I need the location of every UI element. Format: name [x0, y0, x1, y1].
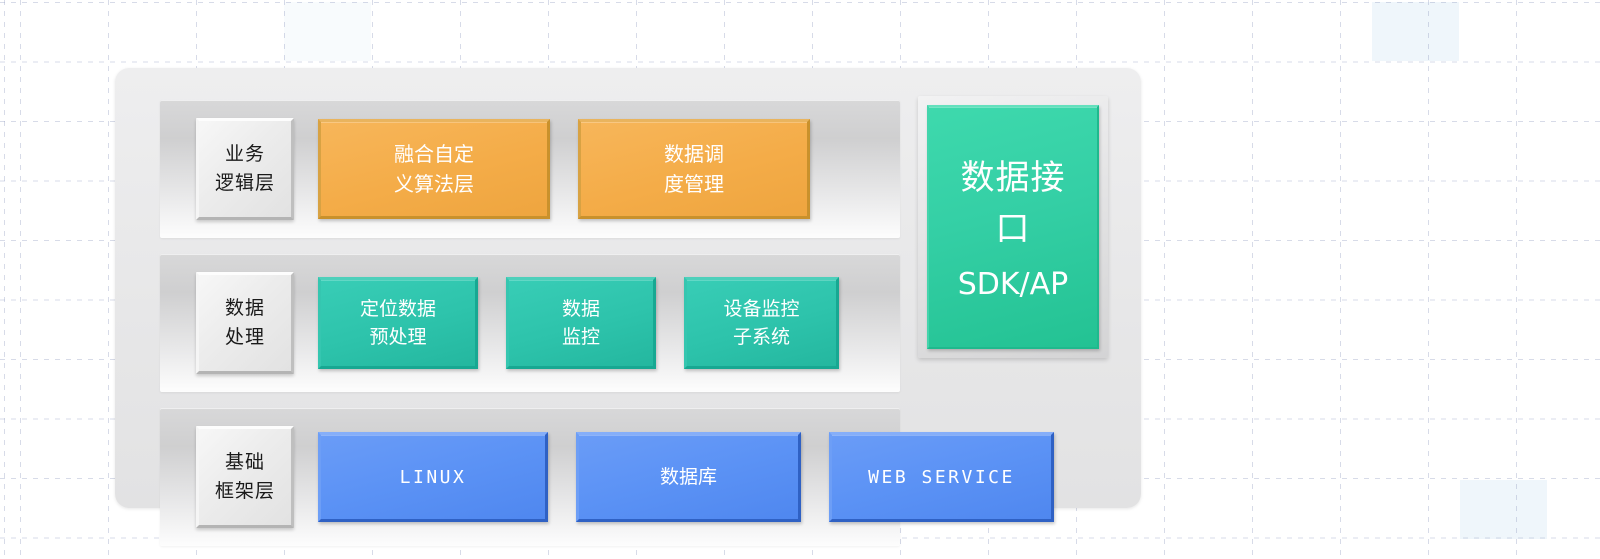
tile-text-line: 义算法层: [394, 169, 474, 199]
tile-data-monitoring[interactable]: 数据 监控: [506, 277, 656, 369]
tile-text-line: 融合自定: [394, 139, 474, 169]
data-interface-line: 口: [996, 204, 1031, 255]
diagram-canvas: 业务 逻辑层 融合自定 义算法层 数据调 度管理 数据: [0, 0, 1600, 559]
grid-tint-cell: [284, 2, 371, 61]
layer-label-line: 数据: [225, 294, 265, 323]
data-interface-frame: 数据接 口 SDK/AP: [918, 96, 1108, 358]
tile-text-line: 预处理: [369, 323, 426, 352]
layer-stack: 业务 逻辑层 融合自定 义算法层 数据调 度管理 数据: [160, 100, 900, 546]
layer-label-data-processing: 数据 处理: [196, 272, 294, 374]
tile-text-line: 数据库: [660, 463, 717, 492]
layer-label-business-logic: 业务 逻辑层: [196, 118, 294, 220]
tile-text-line: 监控: [562, 323, 600, 352]
layer-row-business-logic: 业务 逻辑层 融合自定 义算法层 数据调 度管理: [160, 100, 900, 238]
tile-text-line: 定位数据: [360, 295, 436, 324]
tile-positioning-preprocess[interactable]: 定位数据 预处理: [318, 277, 478, 369]
tile-text-line: 度管理: [664, 169, 724, 199]
grid-tint-cell: [1372, 2, 1459, 61]
layer-label-line: 基础: [225, 448, 265, 477]
tile-text-line: WEB SERVICE: [868, 464, 1015, 491]
tile-text-line: 设备监控: [723, 295, 799, 324]
data-interface-panel[interactable]: 数据接 口 SDK/AP: [927, 105, 1099, 349]
tile-data-scheduling[interactable]: 数据调 度管理: [578, 119, 810, 219]
tile-device-monitor-subsystem[interactable]: 设备监控 子系统: [684, 277, 839, 369]
layer-label-line: 逻辑层: [215, 169, 275, 198]
layer-tiles-business-logic: 融合自定 义算法层 数据调 度管理: [318, 119, 900, 219]
layer-label-line: 业务: [225, 140, 265, 169]
data-interface-line: 数据接: [961, 153, 1066, 204]
tile-linux[interactable]: LINUX: [318, 432, 548, 522]
layer-tiles-data-processing: 定位数据 预处理 数据 监控 设备监控 子系统: [318, 277, 900, 369]
layer-label-base-framework: 基础 框架层: [196, 426, 294, 528]
layer-label-line: 框架层: [215, 477, 275, 506]
tile-text-line: 数据调: [664, 139, 724, 169]
layer-row-data-processing: 数据 处理 定位数据 预处理 数据 监控 设备监控 子系统: [160, 254, 900, 392]
tile-text-line: 数据: [562, 295, 600, 324]
tile-fusion-algorithm[interactable]: 融合自定 义算法层: [318, 119, 550, 219]
architecture-chassis: 业务 逻辑层 融合自定 义算法层 数据调 度管理 数据: [115, 68, 1141, 508]
layer-tiles-base-framework: LINUX 数据库 WEB SERVICE: [318, 432, 1054, 522]
layer-label-line: 处理: [225, 323, 265, 352]
grid-tint-cell: [1460, 480, 1547, 539]
tile-web-service[interactable]: WEB SERVICE: [829, 432, 1054, 522]
tile-text-line: 子系统: [733, 323, 790, 352]
tile-database[interactable]: 数据库: [576, 432, 801, 522]
layer-row-base-framework: 基础 框架层 LINUX 数据库 WEB SERVICE: [160, 408, 900, 546]
tile-text-line: LINUX: [400, 464, 467, 491]
data-interface-sdk-label: SDK/AP: [958, 267, 1069, 302]
